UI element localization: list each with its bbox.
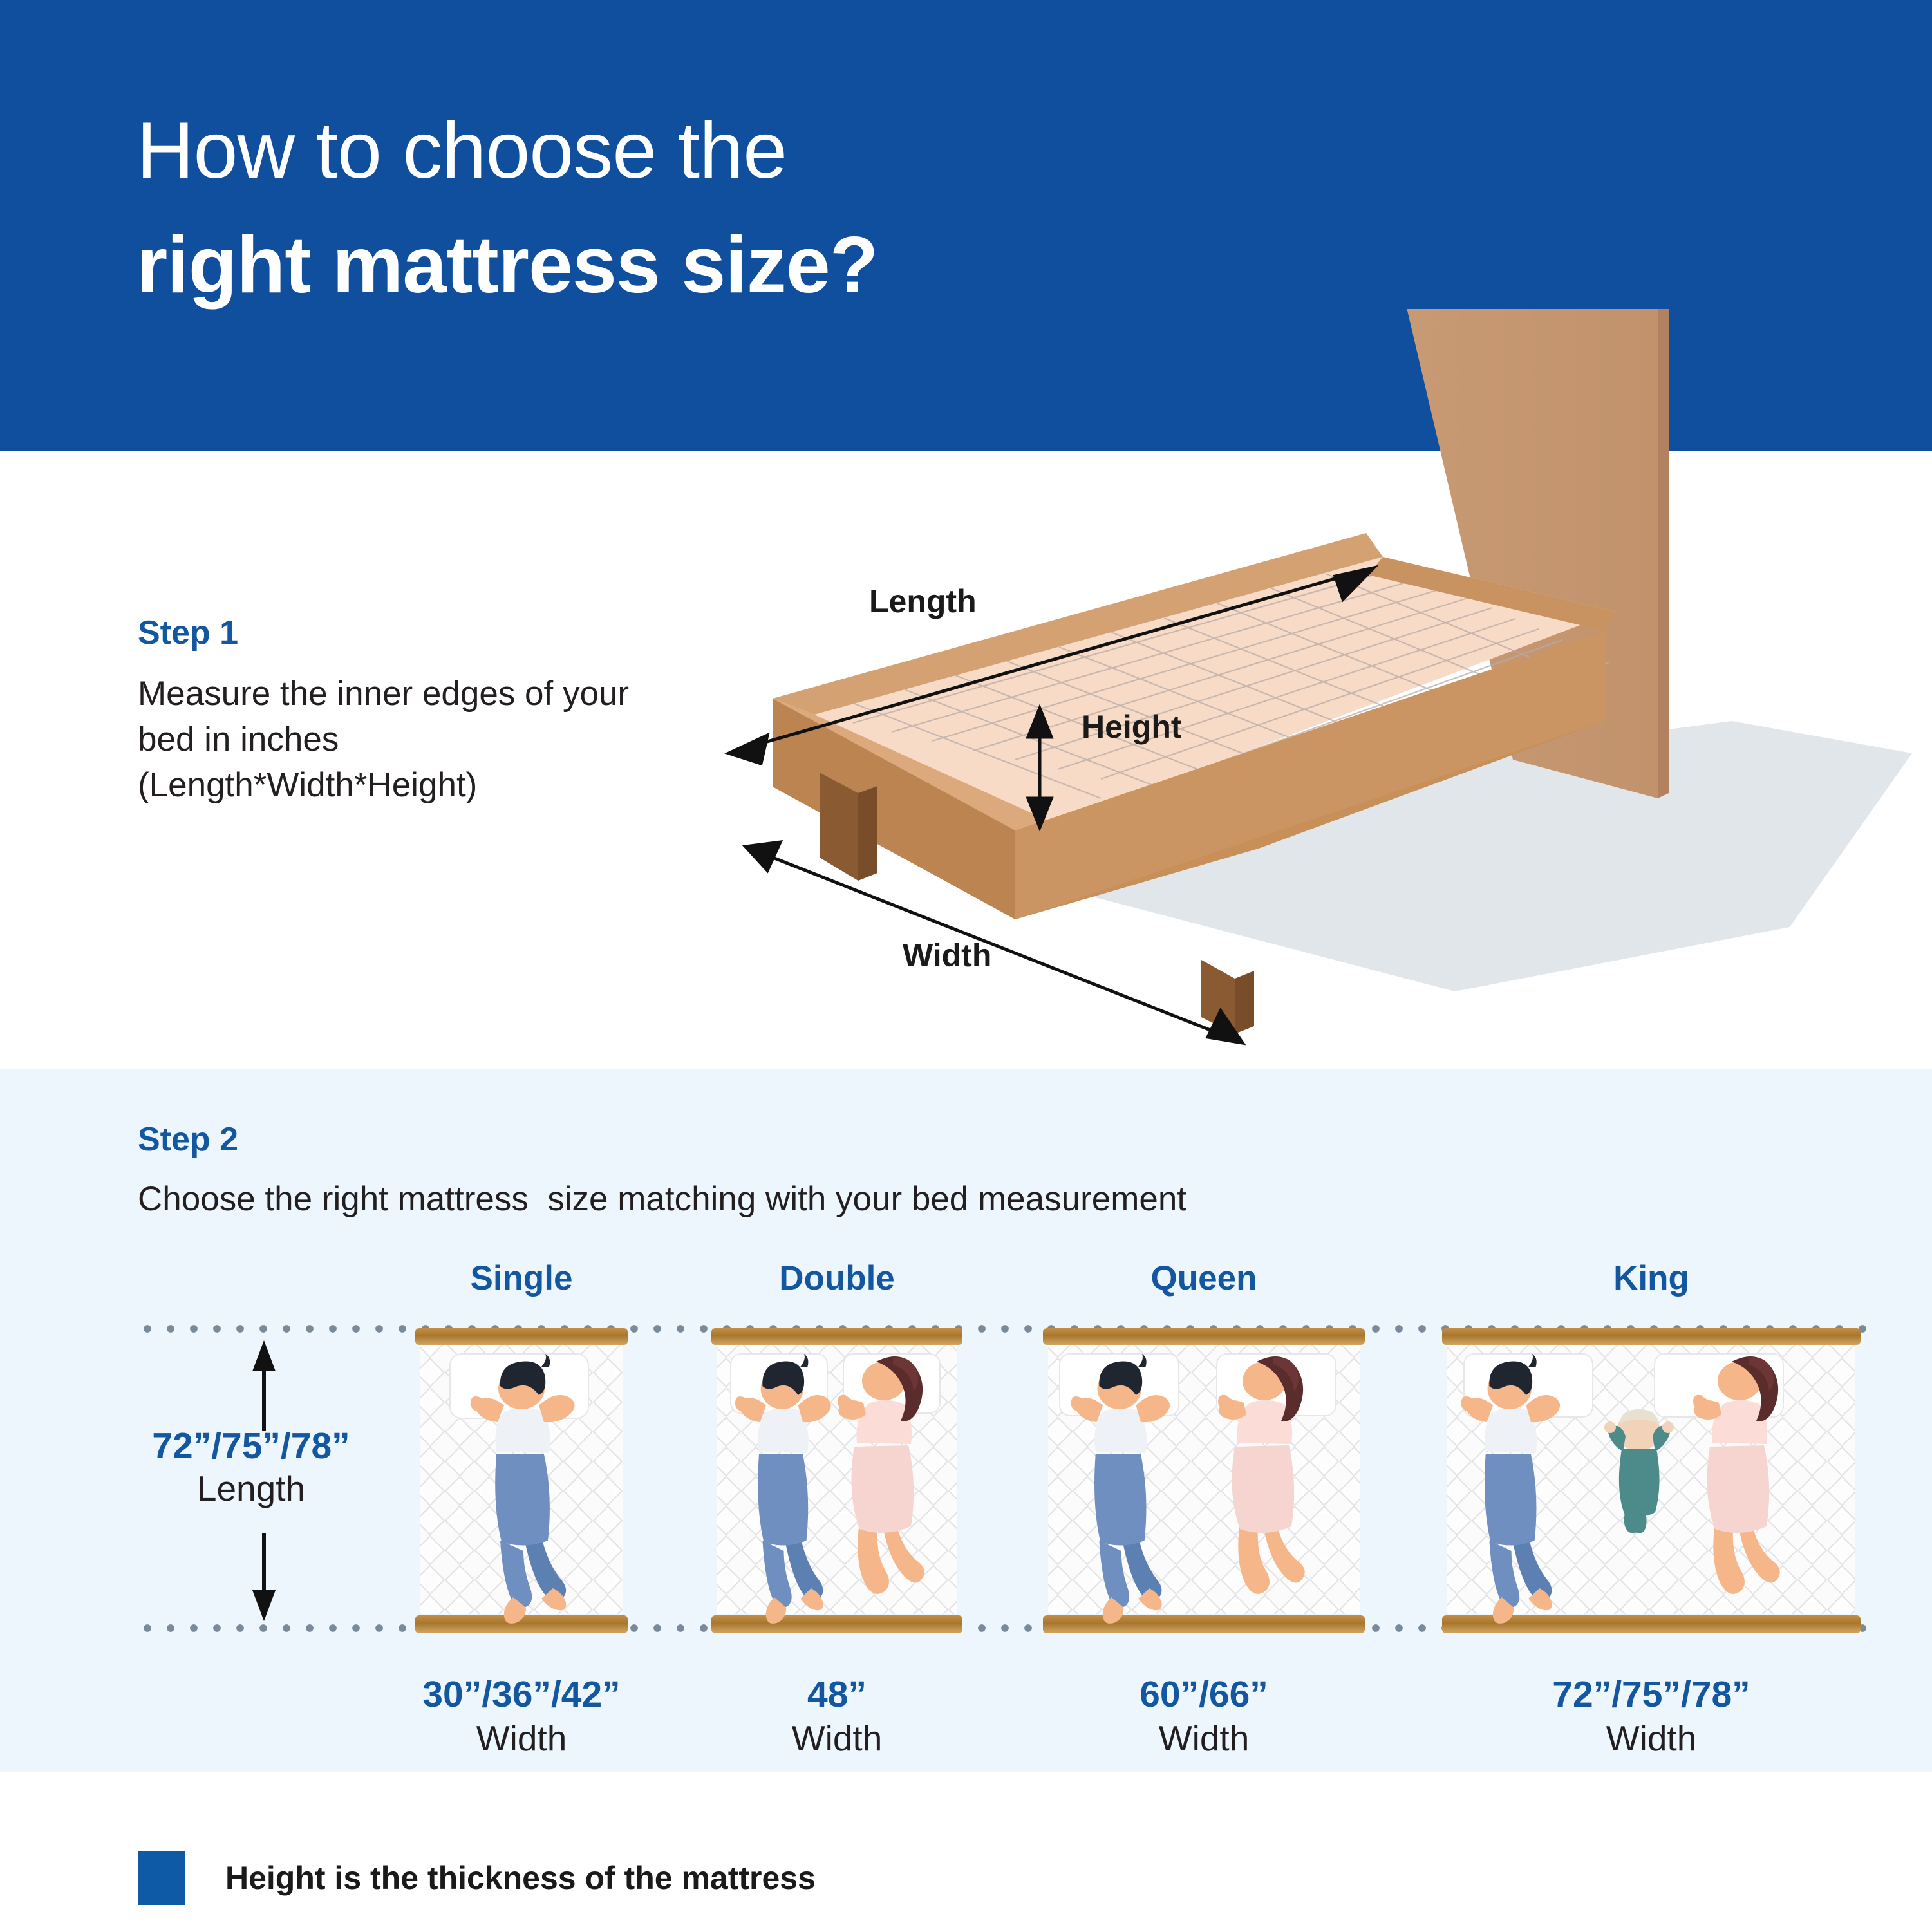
bed-leg-left-face: [858, 786, 877, 881]
size-title-single: Single: [415, 1259, 628, 1298]
width-inches-queen: 60”/66”: [1043, 1674, 1365, 1716]
legend: Height is the thickness of the mattress: [138, 1851, 816, 1905]
bed-width-label: Width: [903, 937, 991, 974]
infographic-page: How to choose the right mattress size? S…: [0, 0, 1932, 1932]
step2-body: Choose the right mattress size matching …: [138, 1177, 1683, 1222]
footboard-double: [711, 1615, 962, 1633]
step2-kicker: Step 2: [138, 1121, 1683, 1158]
bed-height-label: Height: [1082, 708, 1182, 746]
bed-illustration-svg: [695, 309, 1932, 1082]
length-axis-label: 72”/75”/78” Length: [116, 1426, 386, 1510]
width-label-queen: 60”/66” Width: [1043, 1674, 1365, 1760]
bed-diagram: Length Height Width: [695, 309, 1932, 1082]
mattress-single-svg: [415, 1328, 628, 1634]
mattress-king[interactable]: [1442, 1328, 1861, 1634]
bed-leg-front-face: [1235, 971, 1254, 1034]
width-word-double: Width: [711, 1716, 962, 1761]
step1-block: Step 1 Measure the inner edges of your b…: [138, 615, 679, 808]
mattress-king-svg: [1442, 1328, 1861, 1634]
mattress-single[interactable]: [415, 1328, 628, 1634]
width-arrow-head-start: [746, 842, 780, 870]
headboard-double: [711, 1328, 962, 1345]
width-word-queen: Width: [1043, 1716, 1365, 1761]
mattress-double-svg: [711, 1328, 962, 1634]
length-axis-arrow-up: [245, 1338, 283, 1431]
footboard-queen: [1043, 1615, 1365, 1633]
length-arrow-head-start: [729, 735, 767, 764]
length-axis-inches: 72”/75”/78”: [116, 1426, 386, 1467]
page-title-line2: right mattress size?: [136, 225, 877, 305]
legend-text: Height is the thickness of the mattress: [225, 1859, 816, 1897]
step1-body: Measure the inner edges of your bed in i…: [138, 671, 679, 808]
width-label-king: 72”/75”/78” Width: [1442, 1674, 1861, 1760]
width-word-single: Width: [399, 1716, 644, 1761]
mattress-queen-svg: [1043, 1328, 1365, 1634]
length-axis-word: Length: [116, 1467, 386, 1511]
width-inches-single: 30”/36”/42”: [399, 1674, 644, 1716]
mattress-queen[interactable]: [1043, 1328, 1365, 1634]
headboard-queen: [1043, 1328, 1365, 1345]
headboard-single: [415, 1328, 628, 1345]
width-word-king: Width: [1442, 1716, 1861, 1761]
width-inches-double: 48”: [711, 1674, 962, 1716]
step1-kicker: Step 1: [138, 615, 679, 652]
bed-headboard-edge: [1658, 309, 1669, 798]
bed-length-label: Length: [869, 583, 977, 620]
width-label-double: 48” Width: [711, 1674, 962, 1760]
length-axis-arrow-down: [245, 1533, 283, 1624]
page-title-line1: How to choose the: [136, 111, 787, 191]
mattress-double[interactable]: [711, 1328, 962, 1634]
size-title-double: Double: [711, 1259, 962, 1298]
size-title-queen: Queen: [1043, 1259, 1365, 1298]
legend-color-swatch: [138, 1851, 185, 1905]
step2-block: Step 2 Choose the right mattress size ma…: [138, 1121, 1683, 1222]
width-label-single: 30”/36”/42” Width: [399, 1674, 644, 1760]
size-title-king: King: [1442, 1259, 1861, 1298]
headboard-king: [1442, 1328, 1861, 1345]
width-inches-king: 72”/75”/78”: [1442, 1674, 1861, 1716]
